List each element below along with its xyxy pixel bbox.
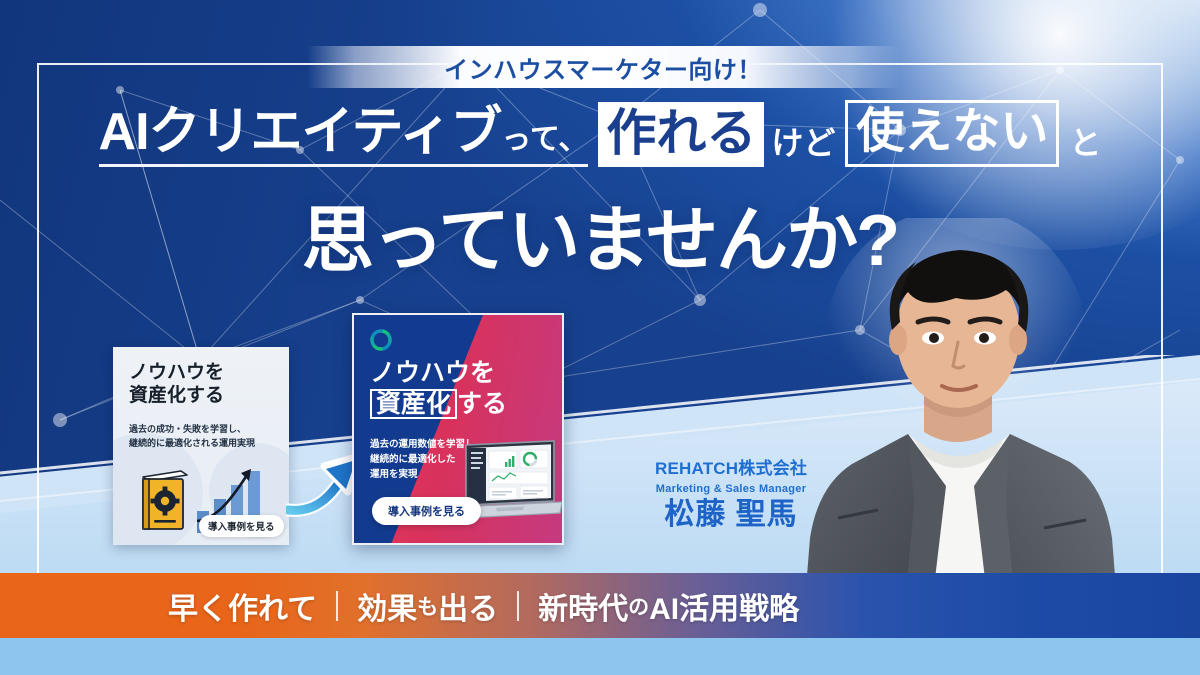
bottom-banner-segment-3a: 新時代 <box>538 584 628 628</box>
bottom-banner-segment-3b: の <box>628 591 649 621</box>
card-after-title-line1: ノウハウを <box>370 359 507 389</box>
bottom-banner: 早く作れて 効果 も 出る 新時代 の AI活用戦略 <box>0 573 1200 638</box>
speaker-info: REHATCH株式会社 Marketing & Sales Manager 松藤… <box>655 460 807 531</box>
bottom-banner-segment-2b: も <box>417 591 438 621</box>
headline-to: と <box>1069 127 1101 167</box>
bottom-banner-segment-2c: 出る <box>438 584 498 628</box>
bottom-banner-segment-1: 早く作れて <box>168 584 317 628</box>
headline-ai: AI <box>99 106 149 167</box>
bottom-light-band <box>0 638 1200 675</box>
card-before: ノウハウを 資産化する 過去の成功・失敗を学習し、 継続的に最適化される運用実現 <box>113 347 289 545</box>
card-before-title-line2: 資産化する <box>129 384 224 407</box>
bottom-banner-divider-2 <box>517 591 519 621</box>
card-after-title-tail: する <box>457 390 507 418</box>
card-after-title-line2: 資産化する <box>370 389 507 420</box>
ribbon-text: インハウスマーケター向け！ <box>444 50 762 85</box>
headline-line-1: AI クリエイティブ って、 作れる けど 使えない と <box>0 100 1200 167</box>
headline-creative: クリエイティブ <box>149 106 502 167</box>
top-ribbon: インハウスマーケター向け！ <box>307 46 899 88</box>
card-before-title: ノウハウを 資産化する <box>129 361 224 407</box>
headline-tte: って、 <box>501 125 588 167</box>
bottom-banner-segment-3c: AI活用戦略 <box>649 584 799 628</box>
speaker-name: 松藤 聖馬 <box>655 498 807 531</box>
card-after-title-boxed: 資産化 <box>370 389 457 419</box>
bottom-banner-divider-1 <box>336 591 338 621</box>
card-after-cta-button[interactable]: 導入事例を見る <box>372 497 481 525</box>
card-before-subtitle: 過去の成功・失敗を学習し、 継続的に最適化される運用実現 <box>129 423 255 450</box>
rehatch-aperture-logo-icon <box>368 327 394 353</box>
speaker-role: Marketing & Sales Manager <box>655 483 807 495</box>
headline-kedo: けど <box>771 127 835 167</box>
card-before-cta-button[interactable]: 導入事例を見る <box>199 515 284 537</box>
card-before-subtitle-line2: 継続的に最適化される運用実現 <box>129 437 255 451</box>
headline-boxed-tsukaenai: 使えない <box>845 100 1059 167</box>
card-after: ノウハウを 資産化する 過去の運用数値を学習し、 継続的に最適化した 運用を実現 <box>352 313 564 545</box>
card-before-subtitle-line1: 過去の成功・失敗を学習し、 <box>129 423 255 437</box>
book-gear-icon <box>137 467 191 533</box>
card-before-title-line1: ノウハウを <box>129 361 224 384</box>
slide-canvas: インハウスマーケター向け！ AI クリエイティブ って、 作れる けど 使えない… <box>0 0 1200 675</box>
bottom-banner-segment-2a: 効果 <box>357 584 417 628</box>
card-after-title: ノウハウを 資産化する <box>370 359 507 419</box>
headline-boxed-tsukureru: 作れる <box>598 102 764 167</box>
speaker-company: REHATCH株式会社 <box>655 460 807 479</box>
